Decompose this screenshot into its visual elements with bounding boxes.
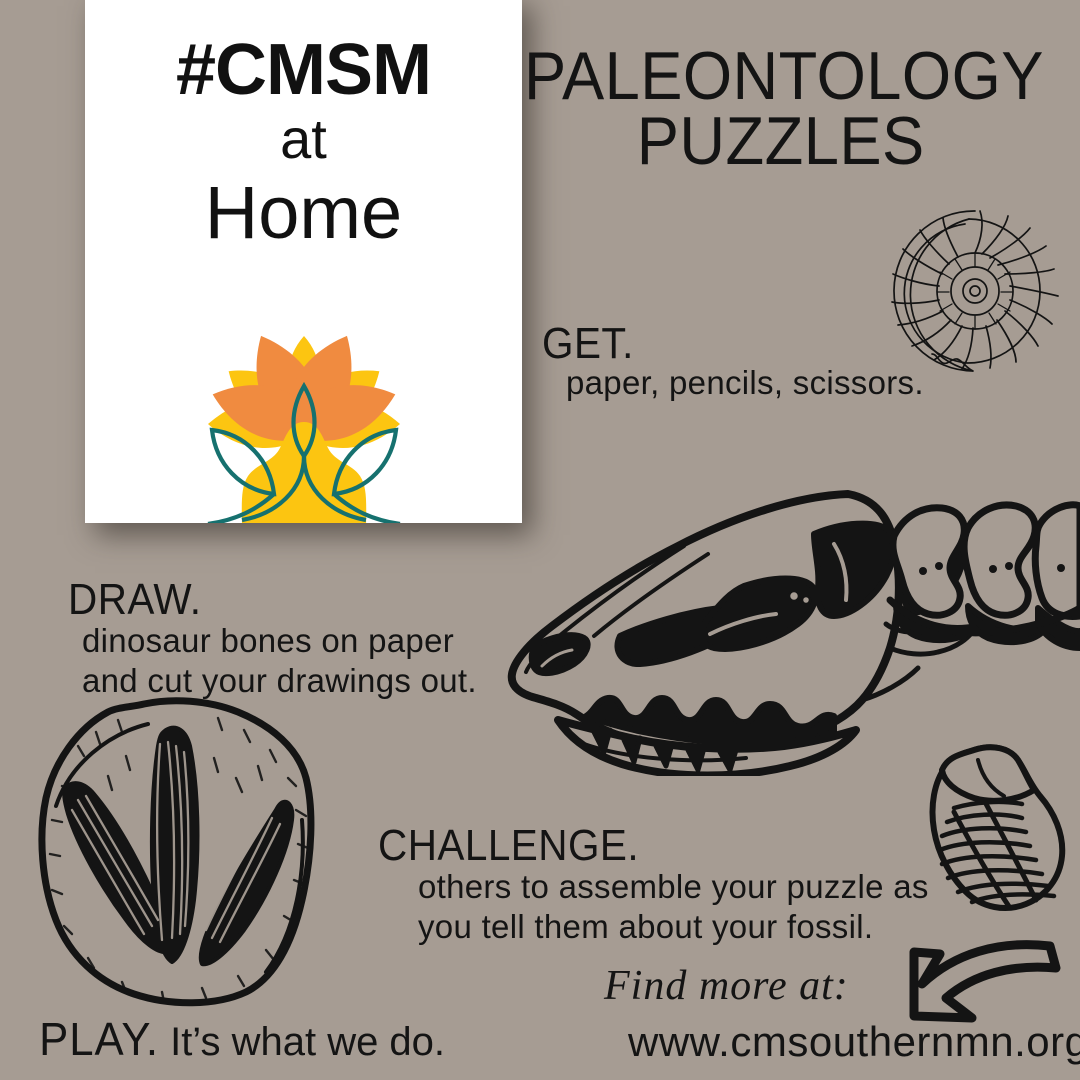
find-more-label: Find more at:	[604, 962, 849, 1010]
play-tagline-rest: It’s what we do.	[170, 1020, 445, 1064]
title-line-2: PUZZLES	[524, 109, 1037, 174]
step-draw-body-line-1: dinosaur bones on paper	[82, 620, 477, 662]
play-tagline: PLAY.It’s what we do.	[36, 1012, 445, 1066]
paleontology-puzzles-poster: #CMSM at Home	[0, 0, 1080, 1080]
cmsm-at-home-logo-card: #CMSM at Home	[85, 0, 522, 523]
step-challenge-body-line-2: you tell them about your fossil.	[418, 906, 929, 948]
play-word: PLAY.	[39, 1012, 159, 1066]
step-get: GET. paper, pencils, scissors.	[542, 322, 924, 404]
dinosaur-footprint-fossil-illustration	[22, 694, 322, 1018]
trilobite-fossil-illustration	[918, 742, 1078, 926]
step-challenge-heading: CHALLENGE.	[378, 824, 885, 868]
step-draw: DRAW. dinosaur bones on paper and cut yo…	[68, 578, 477, 701]
cmsm-sunburst-logo	[104, 324, 504, 523]
step-challenge-body-line-1: others to assemble your puzzle as	[418, 866, 929, 908]
logo-line-cmsm: #CMSM	[85, 36, 522, 104]
dinosaur-skull-illustration	[498, 476, 1080, 780]
page-title: PALEONTOLOGY PUZZLES	[524, 44, 1037, 175]
logo-wordmark: #CMSM at Home	[85, 36, 522, 252]
step-get-heading: GET.	[542, 322, 893, 366]
logo-line-at: at	[85, 104, 522, 174]
website-url[interactable]: www.cmsouthernmn.org	[628, 1018, 1080, 1066]
step-draw-heading: DRAW.	[68, 578, 444, 622]
logo-line-home: Home	[85, 174, 522, 252]
step-get-body: paper, pencils, scissors.	[566, 362, 924, 404]
step-challenge: CHALLENGE. others to assemble your puzzl…	[378, 824, 929, 947]
